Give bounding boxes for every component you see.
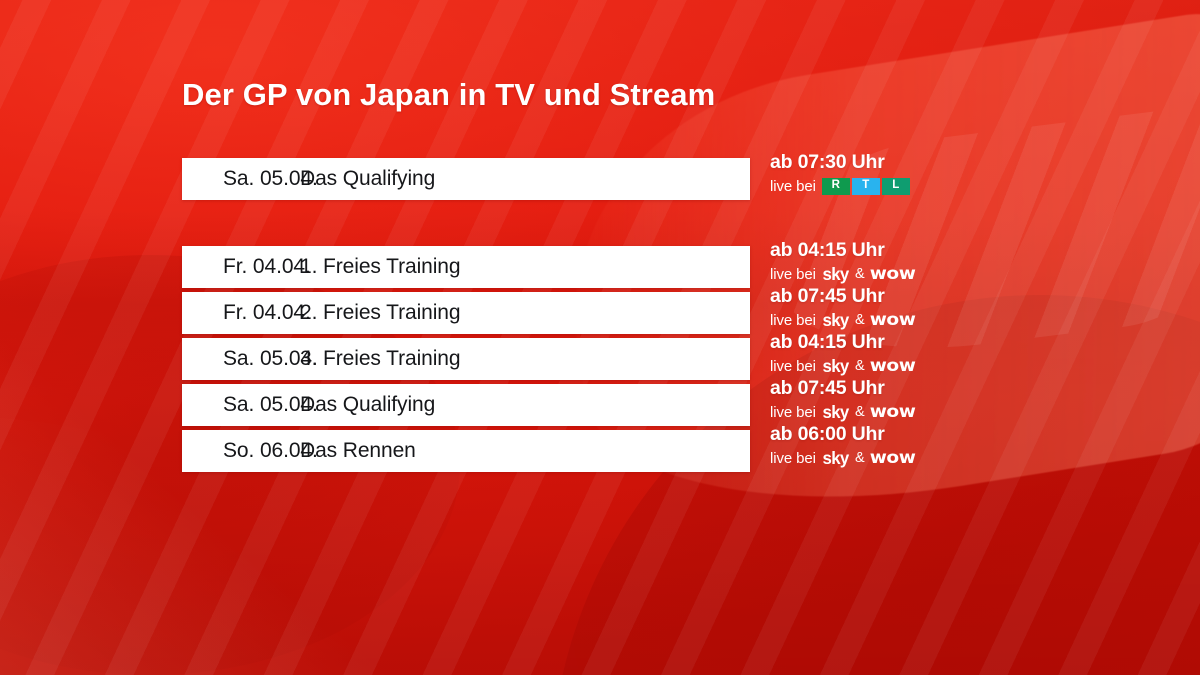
live-label: live bei bbox=[770, 179, 816, 194]
session-title: Das Qualifying bbox=[300, 167, 435, 191]
schedule-row[interactable]: So. 06.04. Das Rennen ab 06:00 Uhr live … bbox=[182, 430, 962, 472]
session-title: 3. Freies Training bbox=[300, 347, 460, 371]
session-bar[interactable]: Sa. 05.04. Das Qualifying bbox=[182, 384, 750, 426]
sky-logo[interactable]: sky bbox=[822, 312, 848, 330]
live-label: live bei bbox=[770, 405, 816, 420]
schedule-row[interactable]: Fr. 04.04. 2. Freies Training ab 07:45 U… bbox=[182, 292, 962, 334]
session-date: Sa. 05.04. bbox=[182, 167, 300, 191]
session-date: Sa. 05.04. bbox=[182, 347, 300, 371]
rtl-logo-letter-l: L bbox=[882, 178, 910, 195]
session-title: 1. Freies Training bbox=[300, 255, 460, 279]
session-bar[interactable]: So. 06.04. Das Rennen bbox=[182, 430, 750, 472]
broadcast-channels: live bei sky & wow bbox=[770, 404, 970, 422]
live-label: live bei bbox=[770, 313, 816, 328]
broadcast-channels: live bei R T L bbox=[770, 178, 970, 195]
broadcast-channels: live bei sky & wow bbox=[770, 312, 970, 330]
session-bar[interactable]: Sa. 05.04. 3. Freies Training bbox=[182, 338, 750, 380]
session-title: Das Rennen bbox=[300, 439, 416, 463]
session-bar[interactable]: Sa. 05.04. Das Qualifying bbox=[182, 158, 750, 200]
session-date: Fr. 04.04. bbox=[182, 255, 300, 279]
session-date: Sa. 05.04. bbox=[182, 393, 300, 417]
schedule-list: Sa. 05.04. Das Qualifying ab 07:30 Uhr l… bbox=[182, 158, 962, 476]
broadcast-info: ab 06:00 Uhr live bei sky & wow bbox=[770, 425, 970, 467]
ampersand-separator: & bbox=[855, 267, 865, 282]
ampersand-separator: & bbox=[855, 451, 865, 466]
broadcast-info: ab 04:15 Uhr live bei sky & wow bbox=[770, 333, 970, 375]
wow-logo[interactable]: wow bbox=[869, 450, 915, 467]
broadcast-channels: live bei sky & wow bbox=[770, 450, 970, 468]
session-date: Fr. 04.04. bbox=[182, 301, 300, 325]
broadcast-time: ab 06:00 Uhr bbox=[770, 425, 970, 445]
graphic-canvas: Der GP von Japan in TV und Stream Sa. 05… bbox=[0, 0, 1200, 675]
session-title: 2. Freies Training bbox=[300, 301, 460, 325]
broadcast-time: ab 04:15 Uhr bbox=[770, 333, 970, 353]
rtl-logo[interactable]: R T L bbox=[822, 178, 910, 195]
live-label: live bei bbox=[770, 451, 816, 466]
live-label: live bei bbox=[770, 267, 816, 282]
schedule-row[interactable]: Fr. 04.04. 1. Freies Training ab 04:15 U… bbox=[182, 246, 962, 288]
ampersand-separator: & bbox=[855, 313, 865, 328]
session-title: Das Qualifying bbox=[300, 393, 435, 417]
wow-logo[interactable]: wow bbox=[869, 404, 915, 421]
wow-logo[interactable]: wow bbox=[869, 312, 915, 329]
live-label: live bei bbox=[770, 359, 816, 374]
rtl-logo-letter-r: R bbox=[822, 178, 850, 195]
broadcast-time: ab 07:30 Uhr bbox=[770, 153, 970, 173]
wow-logo[interactable]: wow bbox=[869, 266, 915, 283]
ampersand-separator: & bbox=[855, 359, 865, 374]
schedule-row[interactable]: Sa. 05.04. Das Qualifying ab 07:45 Uhr l… bbox=[182, 384, 962, 426]
session-bar[interactable]: Fr. 04.04. 1. Freies Training bbox=[182, 246, 750, 288]
broadcast-info: ab 07:30 Uhr live bei R T L bbox=[770, 153, 970, 195]
rtl-logo-letter-t: T bbox=[852, 178, 880, 195]
broadcast-info: ab 07:45 Uhr live bei sky & wow bbox=[770, 379, 970, 421]
sky-logo[interactable]: sky bbox=[822, 404, 848, 422]
broadcast-channels: live bei sky & wow bbox=[770, 358, 970, 376]
schedule-row[interactable]: Sa. 05.04. Das Qualifying ab 07:30 Uhr l… bbox=[182, 158, 962, 200]
page-title: Der GP von Japan in TV und Stream bbox=[182, 77, 715, 113]
broadcast-channels: live bei sky & wow bbox=[770, 266, 970, 284]
content-layer: Der GP von Japan in TV und Stream Sa. 05… bbox=[0, 0, 1200, 675]
broadcast-info: ab 04:15 Uhr live bei sky & wow bbox=[770, 241, 970, 283]
sky-logo[interactable]: sky bbox=[822, 450, 848, 468]
sky-logo[interactable]: sky bbox=[822, 266, 848, 284]
session-date: So. 06.04. bbox=[182, 439, 300, 463]
broadcast-time: ab 07:45 Uhr bbox=[770, 379, 970, 399]
wow-logo[interactable]: wow bbox=[869, 358, 915, 375]
broadcast-info: ab 07:45 Uhr live bei sky & wow bbox=[770, 287, 970, 329]
broadcast-time: ab 07:45 Uhr bbox=[770, 287, 970, 307]
ampersand-separator: & bbox=[855, 405, 865, 420]
sky-logo[interactable]: sky bbox=[822, 358, 848, 376]
session-bar[interactable]: Fr. 04.04. 2. Freies Training bbox=[182, 292, 750, 334]
schedule-row[interactable]: Sa. 05.04. 3. Freies Training ab 04:15 U… bbox=[182, 338, 962, 380]
broadcast-time: ab 04:15 Uhr bbox=[770, 241, 970, 261]
